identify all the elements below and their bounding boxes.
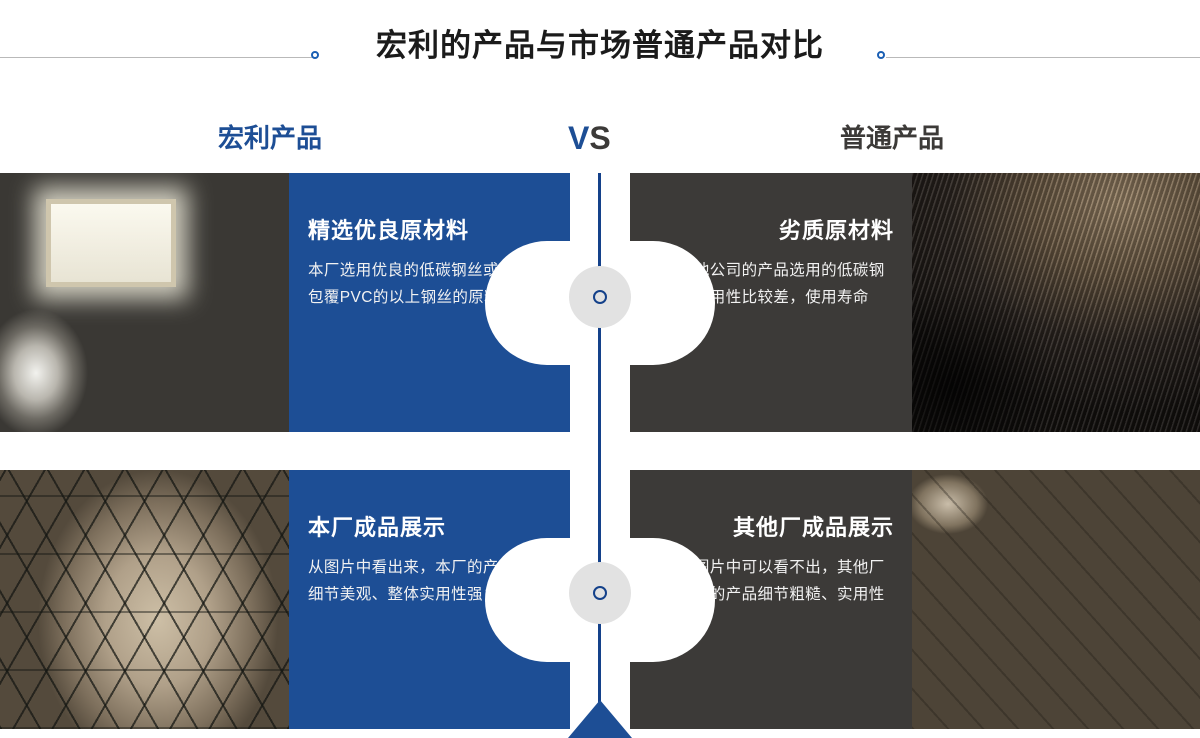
header: 宏利的产品与市场普通产品对比	[0, 0, 1200, 110]
vs-badge: VS	[568, 115, 611, 161]
row1-right-photo	[912, 173, 1200, 432]
row1-right-title: 劣质原材料	[779, 220, 894, 242]
row2-left-card[interactable]: 本厂成品展示 从图片中看出来，本厂的产品细节美观、整体实用性强；	[0, 470, 570, 729]
row2-right-card[interactable]: 其他厂成品展示 从图片中可以看不出，其他厂生产的产品细节粗糙、实用性差；	[630, 470, 1200, 729]
header-rule-right	[886, 57, 1200, 58]
column-labels: 宏利产品 VS 普通产品	[0, 118, 1200, 166]
column-label-left: 宏利产品	[218, 118, 322, 158]
gabion-mesh-boulder-photo	[0, 470, 289, 729]
row2-right-title: 其他厂成品展示	[733, 517, 894, 539]
row1-left-panel: 精选优良原材料 本厂选用优良的低碳钢丝或者包覆PVC的以上钢丝的原料；	[289, 173, 570, 432]
row1-left-title: 精选优良原材料	[308, 220, 469, 242]
row1-right-panel: 劣质原材料 其他公司的产品选用的低碳钢丝实用性比较差，使用寿命短；	[630, 173, 912, 432]
row1-right-card[interactable]: 劣质原材料 其他公司的产品选用的低碳钢丝实用性比较差，使用寿命短；	[630, 173, 1200, 432]
row2-right-panel: 其他厂成品展示 从图片中可以看不出，其他厂生产的产品细节粗糙、实用性差；	[630, 470, 912, 729]
circle-ring-icon-right	[877, 51, 885, 59]
row2-left-title: 本厂成品展示	[308, 517, 446, 539]
column-label-right: 普通产品	[840, 118, 944, 158]
vs-letter-s: S	[589, 120, 610, 156]
rusty-wire-rod-photo	[912, 173, 1200, 432]
row2-left-panel: 本厂成品展示 从图片中看出来，本厂的产品细节美观、整体实用性强；	[289, 470, 570, 729]
node-inner-ring-2	[593, 586, 607, 600]
row1-left-photo	[0, 173, 289, 432]
spine-line	[598, 173, 601, 718]
circle-ring-node-icon-1	[569, 266, 631, 328]
triangle-arrow-icon	[568, 700, 632, 738]
row2-left-photo	[0, 470, 289, 729]
row1-left-card[interactable]: 精选优良原材料 本厂选用优良的低碳钢丝或者包覆PVC的以上钢丝的原料；	[0, 173, 570, 432]
row2-right-photo	[912, 470, 1200, 729]
galvanized-wire-coils-photo	[0, 173, 289, 432]
circle-ring-node-icon-2	[569, 562, 631, 624]
rough-river-cobbles-photo	[912, 470, 1200, 729]
node-inner-ring-1	[593, 290, 607, 304]
vs-letter-v: V	[568, 120, 589, 156]
